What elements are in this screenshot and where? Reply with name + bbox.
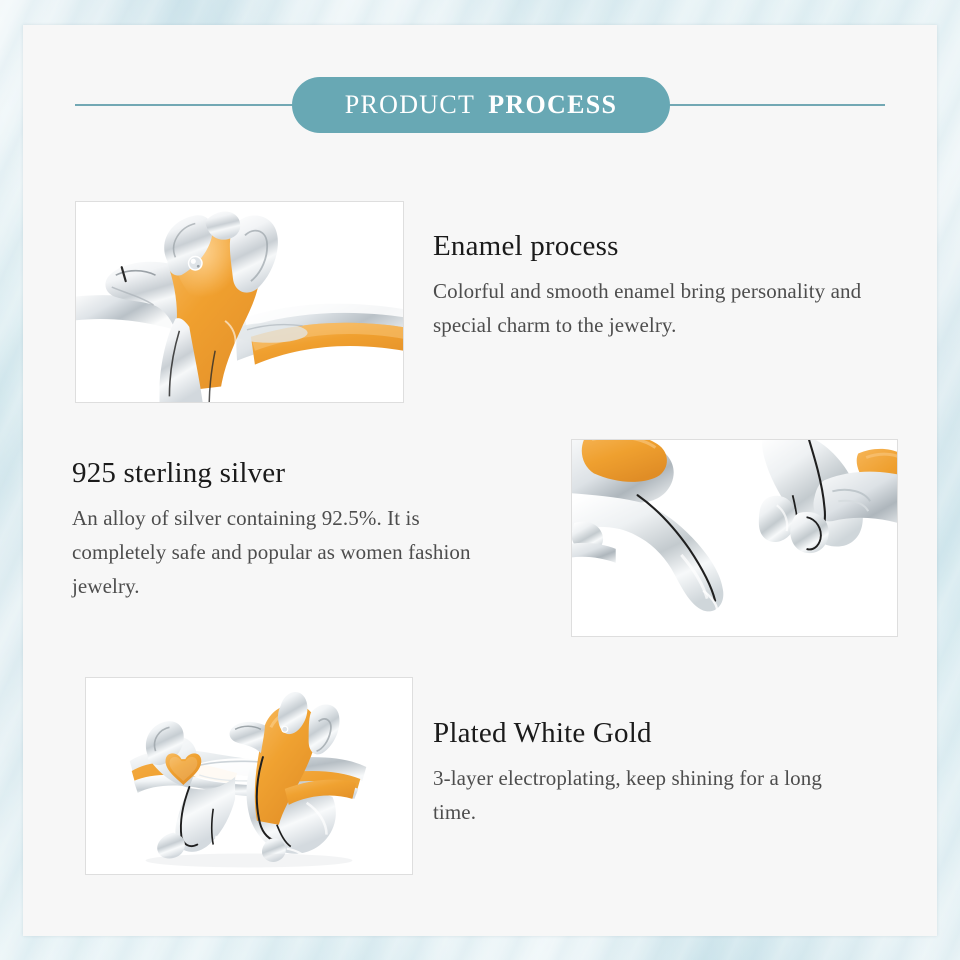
header-title-light: PRODUCT [345, 90, 475, 120]
header-title-bold: PROCESS [488, 90, 617, 120]
section-title-plated-white-gold: Plated White Gold [433, 717, 863, 750]
header: PRODUCT PROCESS [23, 77, 937, 133]
corgi-ring-head-closeup-illustration [76, 202, 403, 402]
section-image-enamel-process [75, 201, 404, 403]
corgi-ring-body-closeup-illustration [572, 440, 897, 636]
header-rule-right [633, 104, 885, 106]
section-title-sterling-silver: 925 sterling silver [72, 457, 512, 490]
section-body-plated-white-gold: 3-layer electroplating, keep shining for… [433, 761, 863, 829]
section-body-sterling-silver: An alloy of silver containing 92.5%. It … [72, 501, 512, 603]
poster-page: PRODUCT PROCESS [0, 0, 960, 960]
header-title-pill: PRODUCT PROCESS [292, 77, 670, 133]
section-text-plated-white-gold: Plated White Gold 3-layer electroplating… [433, 717, 863, 829]
section-image-sterling-silver [571, 439, 898, 637]
section-text-sterling-silver: 925 sterling silver An alloy of silver c… [72, 457, 512, 603]
section-image-plated-white-gold [85, 677, 413, 875]
section-body-enamel-process: Colorful and smooth enamel bring persona… [433, 274, 863, 342]
content-card: PRODUCT PROCESS [23, 25, 937, 936]
section-title-enamel-process: Enamel process [433, 230, 863, 263]
header-rule-left [75, 104, 327, 106]
section-text-enamel-process: Enamel process Colorful and smooth ename… [433, 230, 863, 342]
corgi-ring-full-view-illustration [86, 678, 412, 874]
